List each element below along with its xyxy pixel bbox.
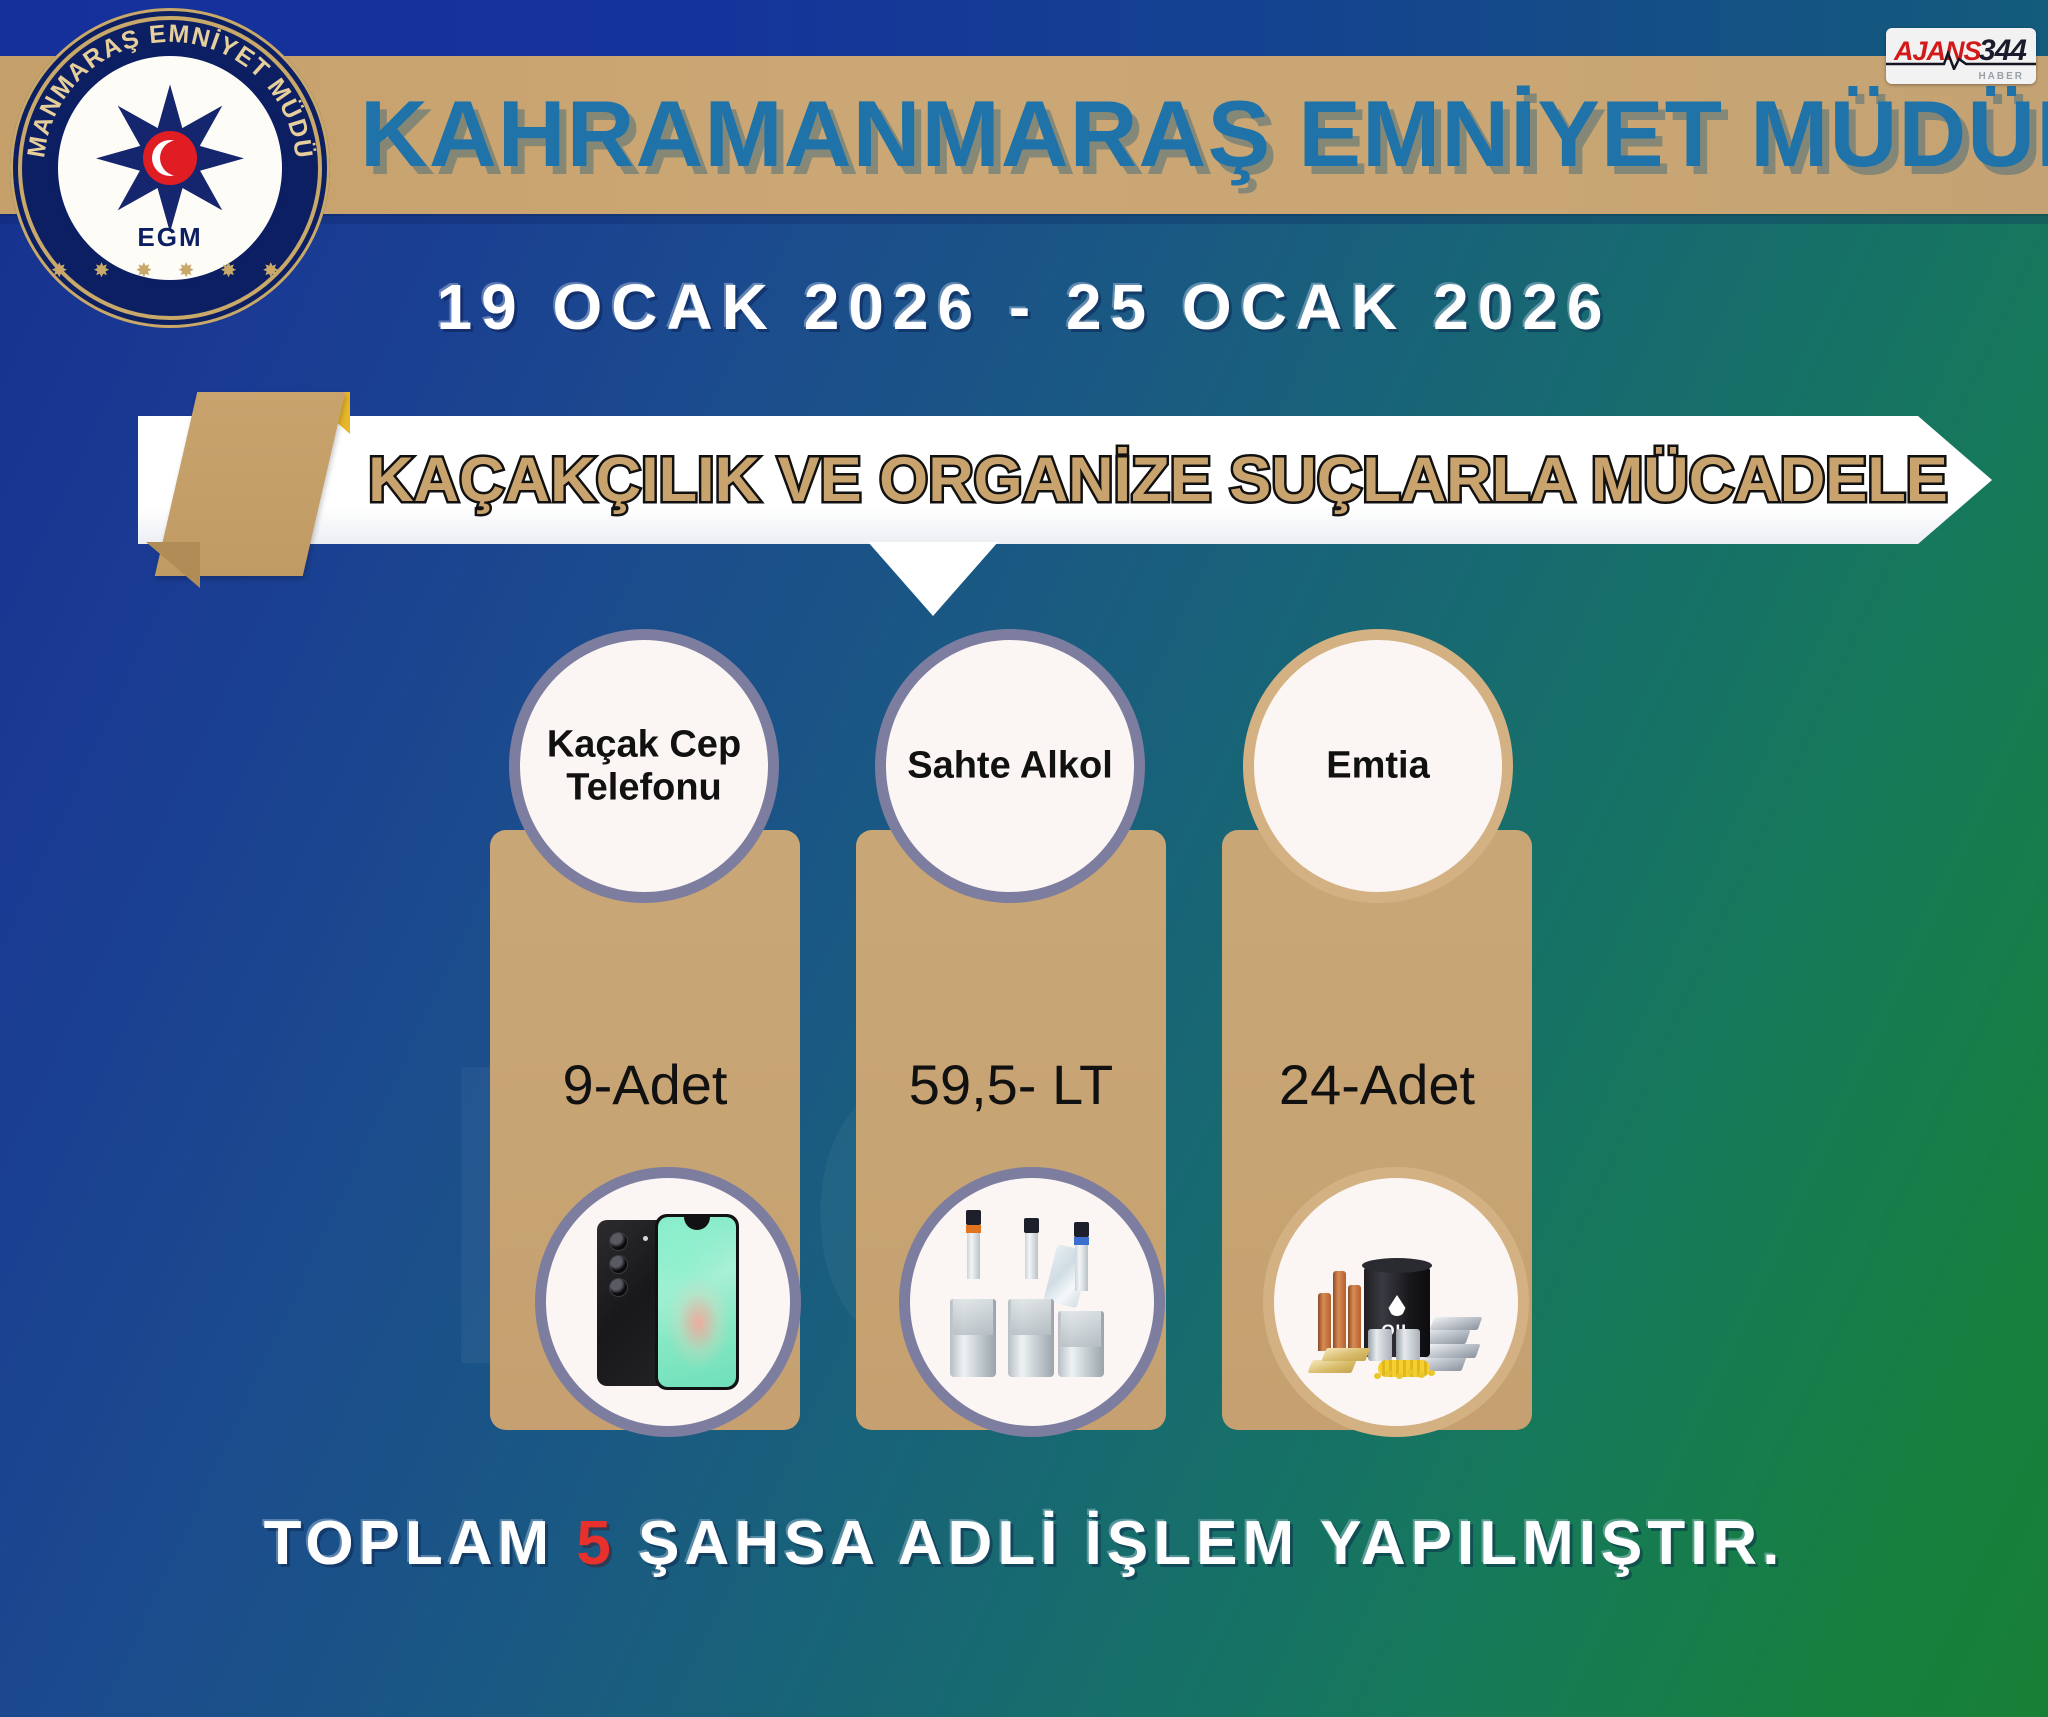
alcohol-bottles-icon (910, 1178, 1154, 1426)
stat-image-bubble-1 (546, 1178, 790, 1426)
emblem-crescent-icon (143, 131, 197, 185)
emblem-abbrev: EGM (10, 222, 330, 253)
footer-summary: TOPLAM 5 ŞAHSA ADLİ İŞLEM YAPILMIŞTIR. (0, 1508, 2048, 1579)
stat-label-bubble-3: Emtia (1254, 640, 1502, 892)
emblem-star-icon (95, 83, 245, 233)
section-banner: KAÇAKÇILIK VE ORGANİZE SUÇLARLA MÜCADELE (138, 416, 1992, 544)
ajans344-logo[interactable]: AJANS 344 HABER (1886, 28, 2036, 84)
footer-suffix: ŞAHSA ADLİ İŞLEM YAPILMIŞTIR. (616, 1509, 1785, 1578)
smartphone-icon (546, 1178, 790, 1426)
stat-label-1-line2: Telefonu (566, 766, 722, 808)
stat-value: 9-Adet (490, 1052, 800, 1117)
footer-count: 5 (576, 1509, 615, 1578)
heartbeat-pulse-icon (1886, 50, 2036, 70)
stat-value: 59,5- LT (856, 1052, 1166, 1117)
commodities-icon: OIL (1274, 1178, 1518, 1426)
stat-label-1: Kaçak Cep Telefonu (526, 723, 762, 808)
date-range: 19 OCAK 2026 - 25 OCAK 2026 (0, 270, 2048, 344)
banner-tab-fold (146, 542, 200, 588)
stat-value: 24-Adet (1222, 1052, 1532, 1117)
stat-image-bubble-3: OIL (1274, 1178, 1518, 1426)
stat-label-3: Emtia (1260, 745, 1496, 788)
stat-label-bubble-1: Kaçak Cep Telefonu (520, 640, 768, 892)
stat-image-bubble-2 (910, 1178, 1154, 1426)
footer-prefix: TOPLAM (264, 1509, 577, 1578)
ajans-logo-subtext: HABER (1978, 71, 2024, 82)
poster-root: KOM KAHRAMANMARAŞ EMNİYET MÜDÜRLÜĞÜ KAHR… (0, 0, 2048, 1717)
banner-title: KAÇAKÇILIK VE ORGANİZE SUÇLARLA MÜCADELE (388, 416, 1928, 544)
stats-card-group: 9-Adet Kaçak Cep Telefonu (490, 640, 1560, 1430)
banner-pointer-notch (868, 542, 998, 616)
stat-label-1-line1: Kaçak Cep (547, 723, 741, 765)
stat-label-2: Sahte Alkol (892, 745, 1128, 788)
page-title: KAHRAMANMARAŞ EMNİYET MÜDÜRLÜĞÜ (360, 64, 1920, 204)
stat-label-bubble-2: Sahte Alkol (886, 640, 1134, 892)
